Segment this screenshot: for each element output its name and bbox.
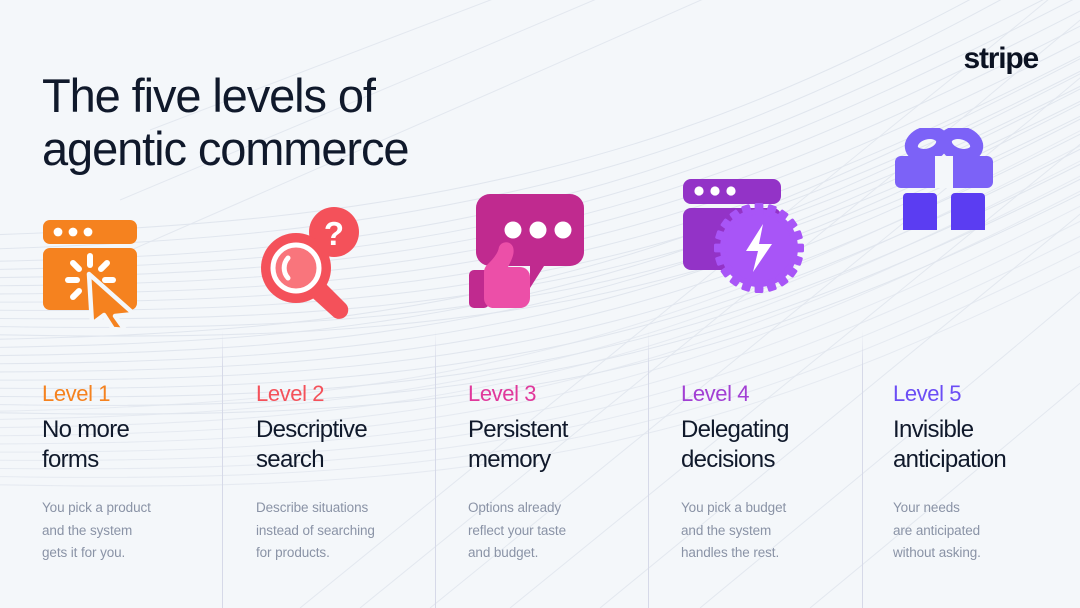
level-1-icon-wrap — [42, 212, 247, 342]
level-3-heading: Persistent memory — [468, 415, 653, 475]
level-2-text: Level 2 Descriptive search Describe situ… — [256, 381, 441, 565]
level-4-label: Level 4 — [681, 381, 866, 407]
level-3-icon-wrap — [468, 188, 673, 318]
infographic-canvas: The five levels of agentic commerce stri… — [0, 0, 1080, 608]
level-1-description: You pick a product and the system gets i… — [42, 497, 227, 565]
level-1-text: Level 1 No more forms You pick a product… — [42, 381, 227, 565]
level-5-heading: Invisible anticipation — [893, 415, 1078, 475]
chat-thumbs-up-icon — [468, 188, 593, 310]
level-column-5: Level 5 Invisible anticipation Your need… — [893, 0, 1080, 608]
magnifier-question-icon: ? — [256, 206, 366, 326]
svg-text:?: ? — [324, 215, 344, 252]
level-2-description: Describe situations instead of searching… — [256, 497, 441, 565]
level-4-text: Level 4 Delegating decisions You pick a … — [681, 381, 866, 565]
level-2-heading: Descriptive search — [256, 415, 441, 475]
level-1-heading: No more forms — [42, 415, 227, 475]
level-2-label: Level 2 — [256, 381, 441, 407]
level-5-description: Your needs are anticipated without askin… — [893, 497, 1078, 565]
level-4-heading: Delegating decisions — [681, 415, 866, 475]
level-5-label: Level 5 — [893, 381, 1078, 407]
level-column-1: Level 1 No more forms You pick a product… — [42, 0, 247, 608]
level-1-label: Level 1 — [42, 381, 227, 407]
level-3-text: Level 3 Persistent memory Options alread… — [468, 381, 653, 565]
level-5-text: Level 5 Invisible anticipation Your need… — [893, 381, 1078, 565]
level-column-4: Level 4 Delegating decisions You pick a … — [681, 0, 886, 608]
levels-container: Level 1 No more forms You pick a product… — [0, 0, 1080, 608]
browser-gear-bolt-icon — [681, 176, 806, 296]
gift-box-icon — [893, 128, 995, 230]
browser-click-icon — [42, 212, 152, 330]
level-column-3: Level 3 Persistent memory Options alread… — [468, 0, 673, 608]
level-3-label: Level 3 — [468, 381, 653, 407]
level-4-description: You pick a budget and the system handles… — [681, 497, 866, 565]
level-2-icon-wrap: ? — [256, 206, 461, 336]
level-column-2: ? Level 2 Descriptive search Describe si… — [256, 0, 461, 608]
level-3-description: Options already reflect your taste and b… — [468, 497, 653, 565]
level-5-icon-wrap — [893, 128, 1080, 258]
level-4-icon-wrap — [681, 176, 886, 306]
